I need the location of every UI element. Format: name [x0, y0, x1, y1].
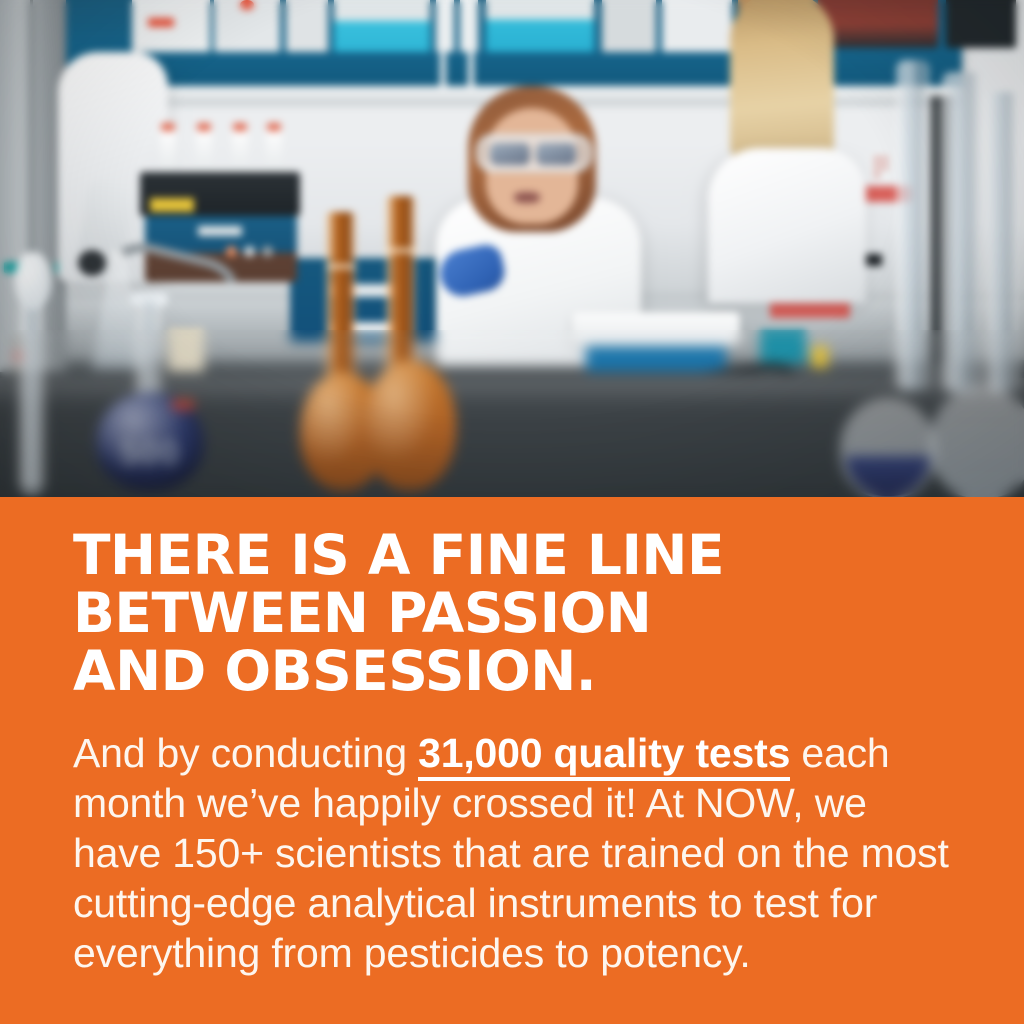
amber-flask-graduation-ring	[386, 248, 416, 253]
cabinet-jar	[602, 0, 656, 52]
glass-column	[986, 92, 1018, 392]
cabinet-bottle	[334, 0, 430, 52]
rack-yellow-label	[150, 198, 194, 212]
scientist-mouth	[514, 192, 540, 203]
glass-column	[942, 72, 982, 392]
flask-volume-label: 500	[104, 434, 196, 473]
orange-text-panel: THERE IS A FINE LINE BETWEEN PASSION AND…	[0, 497, 1024, 1024]
flask-red-marking	[172, 400, 194, 410]
instrument-display	[198, 226, 242, 236]
test-tube	[160, 128, 176, 178]
lab-photo: 500	[0, 0, 1024, 497]
pipette-bulb	[14, 252, 52, 310]
analytical-balance-pan	[572, 312, 740, 346]
flask-neck	[136, 300, 162, 400]
red-label	[240, 0, 254, 10]
amber-volumetric-flask	[364, 360, 456, 490]
instrument-knob	[262, 246, 273, 257]
body-text-before: And by conducting	[73, 730, 418, 776]
cabinet-divider	[468, 0, 474, 86]
cabinet-bottle	[486, 0, 594, 52]
blonde-scientist-back-turned	[700, 0, 870, 300]
headline: THERE IS A FINE LINE BETWEEN PASSION AND…	[73, 526, 973, 700]
cabinet-shelf-contents	[946, 0, 1016, 48]
amber-flask-neck	[386, 196, 416, 384]
glass-column	[896, 60, 930, 390]
red-label	[148, 18, 174, 27]
goggle-lens	[490, 143, 530, 165]
yellow-container	[812, 346, 828, 368]
teal-container	[760, 330, 806, 364]
safety-goggles-icon	[476, 134, 592, 172]
quality-tests-emphasis: 31,000 quality tests	[418, 730, 790, 781]
test-tube	[196, 128, 212, 178]
promo-graphic: 500 THERE IS A FINE LINE BETWEEN PASSION…	[0, 0, 1024, 1024]
cabinet-box	[286, 0, 328, 52]
instrument-knob	[226, 246, 237, 257]
lab-coat	[708, 148, 866, 303]
cabinet-divider	[440, 0, 446, 86]
instrument-knob	[244, 246, 255, 257]
goggle-lens	[536, 143, 576, 165]
control-panel-indicator-lights	[874, 156, 888, 178]
body-copy: And by conducting 31,000 quality tests e…	[73, 728, 949, 978]
amber-flask-graduation-ring	[326, 264, 356, 269]
clear-volumetric-flask	[930, 386, 1024, 497]
test-tube	[266, 128, 282, 178]
test-tube	[232, 128, 248, 178]
amber-flask-neck	[326, 212, 356, 384]
